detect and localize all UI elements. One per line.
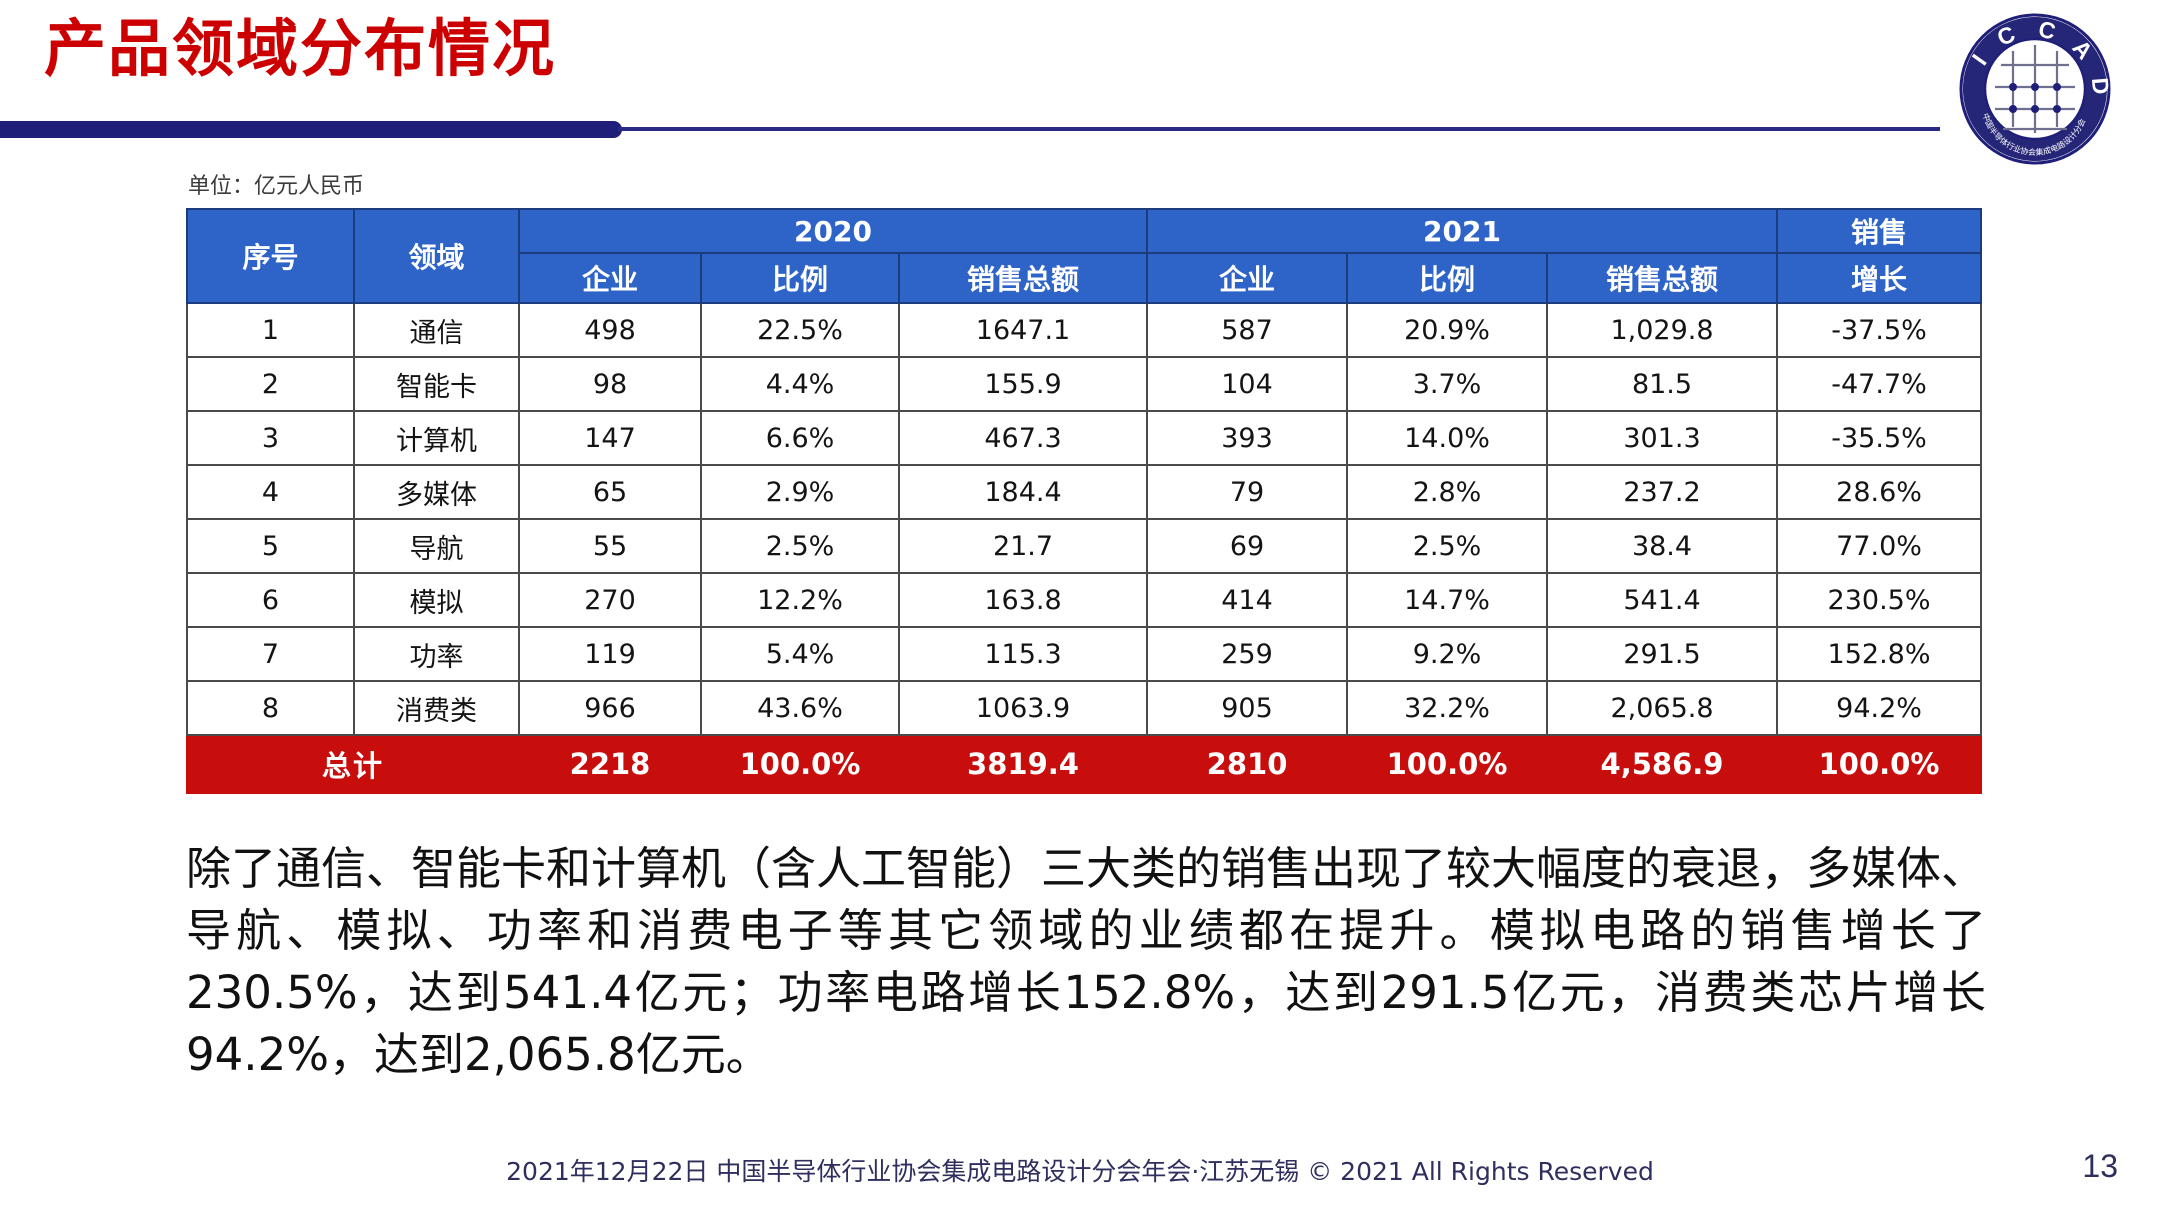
cell-growth: 77.0% xyxy=(1777,519,1981,573)
cell-2020-sales: 1647.1 xyxy=(899,303,1147,357)
table-head-row-1: 序号 领域 2020 2021 销售 xyxy=(187,209,1981,253)
cell-domain: 智能卡 xyxy=(354,357,519,411)
page-number: 13 xyxy=(2082,1148,2118,1185)
cell-total-2021-ratio: 100.0% xyxy=(1347,735,1547,793)
cell-index: 3 xyxy=(187,411,354,465)
cell-2021-sales: 541.4 xyxy=(1547,573,1777,627)
cell-2021-ratio: 2.5% xyxy=(1347,519,1547,573)
col-header-index: 序号 xyxy=(187,209,354,303)
cell-total-growth: 100.0% xyxy=(1777,735,1981,793)
title-rule-thin xyxy=(618,127,1940,131)
cell-domain: 通信 xyxy=(354,303,519,357)
col-header-domain: 领域 xyxy=(354,209,519,303)
cell-domain: 模拟 xyxy=(354,573,519,627)
product-domain-table: 序号 领域 2020 2021 销售 企业 比例 销售总额 企业 比例 销售总额… xyxy=(186,208,1980,794)
cell-2020-enterprise: 270 xyxy=(519,573,701,627)
cell-2021-ratio: 14.0% xyxy=(1347,411,1547,465)
cell-index: 5 xyxy=(187,519,354,573)
footer-text: 2021年12月22日 中国半导体行业协会集成电路设计分会年会·江苏无锡 © 2… xyxy=(0,1152,2160,1188)
group-header-2021: 2021 xyxy=(1147,209,1777,253)
title-rule-thick xyxy=(0,121,622,138)
cell-total-2020-ratio: 100.0% xyxy=(701,735,899,793)
cell-2020-ratio: 5.4% xyxy=(701,627,899,681)
cell-2021-sales: 2,065.8 xyxy=(1547,681,1777,735)
cell-2020-enterprise: 498 xyxy=(519,303,701,357)
cell-2021-ratio: 20.9% xyxy=(1347,303,1547,357)
cell-2020-ratio: 4.4% xyxy=(701,357,899,411)
table-row: 7 功率 119 5.4% 115.3 259 9.2% 291.5 152.8… xyxy=(187,627,1981,681)
table-row: 4 多媒体 65 2.9% 184.4 79 2.8% 237.2 28.6% xyxy=(187,465,1981,519)
group-header-growth-top: 销售 xyxy=(1777,209,1981,253)
cell-index: 8 xyxy=(187,681,354,735)
cell-domain: 消费类 xyxy=(354,681,519,735)
cell-2020-sales: 115.3 xyxy=(899,627,1147,681)
cell-total-2021-sales: 4,586.9 xyxy=(1547,735,1777,793)
cell-2020-ratio: 2.5% xyxy=(701,519,899,573)
cell-growth: -47.7% xyxy=(1777,357,1981,411)
cell-index: 4 xyxy=(187,465,354,519)
cell-2021-ratio: 2.8% xyxy=(1347,465,1547,519)
cell-2021-enterprise: 393 xyxy=(1147,411,1347,465)
cell-2020-ratio: 22.5% xyxy=(701,303,899,357)
cell-2020-sales: 21.7 xyxy=(899,519,1147,573)
table-row: 5 导航 55 2.5% 21.7 69 2.5% 38.4 77.0% xyxy=(187,519,1981,573)
cell-2021-ratio: 9.2% xyxy=(1347,627,1547,681)
cell-2020-sales: 467.3 xyxy=(899,411,1147,465)
slide-root: 产品领域分布情况 xyxy=(0,0,2160,1216)
cell-index: 1 xyxy=(187,303,354,357)
col-header-2021-sales: 销售总额 xyxy=(1547,253,1777,303)
cell-2020-ratio: 12.2% xyxy=(701,573,899,627)
cell-2021-ratio: 32.2% xyxy=(1347,681,1547,735)
cell-2020-enterprise: 65 xyxy=(519,465,701,519)
cell-growth: -37.5% xyxy=(1777,303,1981,357)
cell-2021-sales: 301.3 xyxy=(1547,411,1777,465)
cell-2020-sales: 163.8 xyxy=(899,573,1147,627)
cell-2021-sales: 38.4 xyxy=(1547,519,1777,573)
cell-2020-ratio: 6.6% xyxy=(701,411,899,465)
table-row: 6 模拟 270 12.2% 163.8 414 14.7% 541.4 230… xyxy=(187,573,1981,627)
col-header-2020-sales: 销售总额 xyxy=(899,253,1147,303)
cell-growth: 152.8% xyxy=(1777,627,1981,681)
cell-2020-enterprise: 119 xyxy=(519,627,701,681)
col-header-2021-enterprise: 企业 xyxy=(1147,253,1347,303)
cell-index: 6 xyxy=(187,573,354,627)
iccad-logo: I C C A D 中国半导体行业协会集成电路设计分会 xyxy=(1955,9,2115,169)
cell-growth: -35.5% xyxy=(1777,411,1981,465)
cell-2021-enterprise: 905 xyxy=(1147,681,1347,735)
cell-domain: 导航 xyxy=(354,519,519,573)
cell-2020-enterprise: 966 xyxy=(519,681,701,735)
table-total-row: 总计 2218 100.0% 3819.4 2810 100.0% 4,586.… xyxy=(187,735,1981,793)
cell-2021-sales: 291.5 xyxy=(1547,627,1777,681)
cell-total-label: 总计 xyxy=(187,735,519,793)
cell-total-2020-sales: 3819.4 xyxy=(899,735,1147,793)
cell-domain: 功率 xyxy=(354,627,519,681)
cell-domain: 计算机 xyxy=(354,411,519,465)
cell-2021-ratio: 3.7% xyxy=(1347,357,1547,411)
iccad-logo-icon: I C C A D 中国半导体行业协会集成电路设计分会 xyxy=(1955,9,2115,169)
cell-2021-enterprise: 69 xyxy=(1147,519,1347,573)
table-body: 1 通信 498 22.5% 1647.1 587 20.9% 1,029.8 … xyxy=(187,303,1981,793)
unit-label: 单位：亿元人民币 xyxy=(188,168,364,200)
cell-2021-sales: 237.2 xyxy=(1547,465,1777,519)
body-paragraph: 除了通信、智能卡和计算机（含人工智能）三大类的销售出现了较大幅度的衰退，多媒体、… xyxy=(186,838,1986,1086)
group-header-2020: 2020 xyxy=(519,209,1147,253)
cell-index: 7 xyxy=(187,627,354,681)
cell-2020-sales: 184.4 xyxy=(899,465,1147,519)
cell-2020-ratio: 2.9% xyxy=(701,465,899,519)
table-row: 8 消费类 966 43.6% 1063.9 905 32.2% 2,065.8… xyxy=(187,681,1981,735)
col-header-2020-ratio: 比例 xyxy=(701,253,899,303)
cell-total-2021-enterprise: 2810 xyxy=(1147,735,1347,793)
cell-2020-sales: 1063.9 xyxy=(899,681,1147,735)
cell-2021-sales: 1,029.8 xyxy=(1547,303,1777,357)
cell-domain: 多媒体 xyxy=(354,465,519,519)
data-table: 序号 领域 2020 2021 销售 企业 比例 销售总额 企业 比例 销售总额… xyxy=(186,208,1982,794)
cell-2021-enterprise: 414 xyxy=(1147,573,1347,627)
cell-2021-enterprise: 259 xyxy=(1147,627,1347,681)
col-header-2020-enterprise: 企业 xyxy=(519,253,701,303)
cell-growth: 94.2% xyxy=(1777,681,1981,735)
cell-2021-sales: 81.5 xyxy=(1547,357,1777,411)
cell-total-2020-enterprise: 2218 xyxy=(519,735,701,793)
cell-2021-enterprise: 587 xyxy=(1147,303,1347,357)
table-row: 2 智能卡 98 4.4% 155.9 104 3.7% 81.5 -47.7% xyxy=(187,357,1981,411)
cell-2020-enterprise: 98 xyxy=(519,357,701,411)
cell-2020-enterprise: 147 xyxy=(519,411,701,465)
cell-2021-enterprise: 104 xyxy=(1147,357,1347,411)
cell-growth: 28.6% xyxy=(1777,465,1981,519)
cell-index: 2 xyxy=(187,357,354,411)
col-header-2021-ratio: 比例 xyxy=(1347,253,1547,303)
cell-2021-ratio: 14.7% xyxy=(1347,573,1547,627)
page-title: 产品领域分布情况 xyxy=(44,14,556,85)
table-row: 3 计算机 147 6.6% 467.3 393 14.0% 301.3 -35… xyxy=(187,411,1981,465)
col-header-growth-bottom: 增长 xyxy=(1777,253,1981,303)
cell-growth: 230.5% xyxy=(1777,573,1981,627)
cell-2020-ratio: 43.6% xyxy=(701,681,899,735)
cell-2020-enterprise: 55 xyxy=(519,519,701,573)
table-row: 1 通信 498 22.5% 1647.1 587 20.9% 1,029.8 … xyxy=(187,303,1981,357)
cell-2021-enterprise: 79 xyxy=(1147,465,1347,519)
table-head: 序号 领域 2020 2021 销售 企业 比例 销售总额 企业 比例 销售总额… xyxy=(187,209,1981,303)
cell-2020-sales: 155.9 xyxy=(899,357,1147,411)
